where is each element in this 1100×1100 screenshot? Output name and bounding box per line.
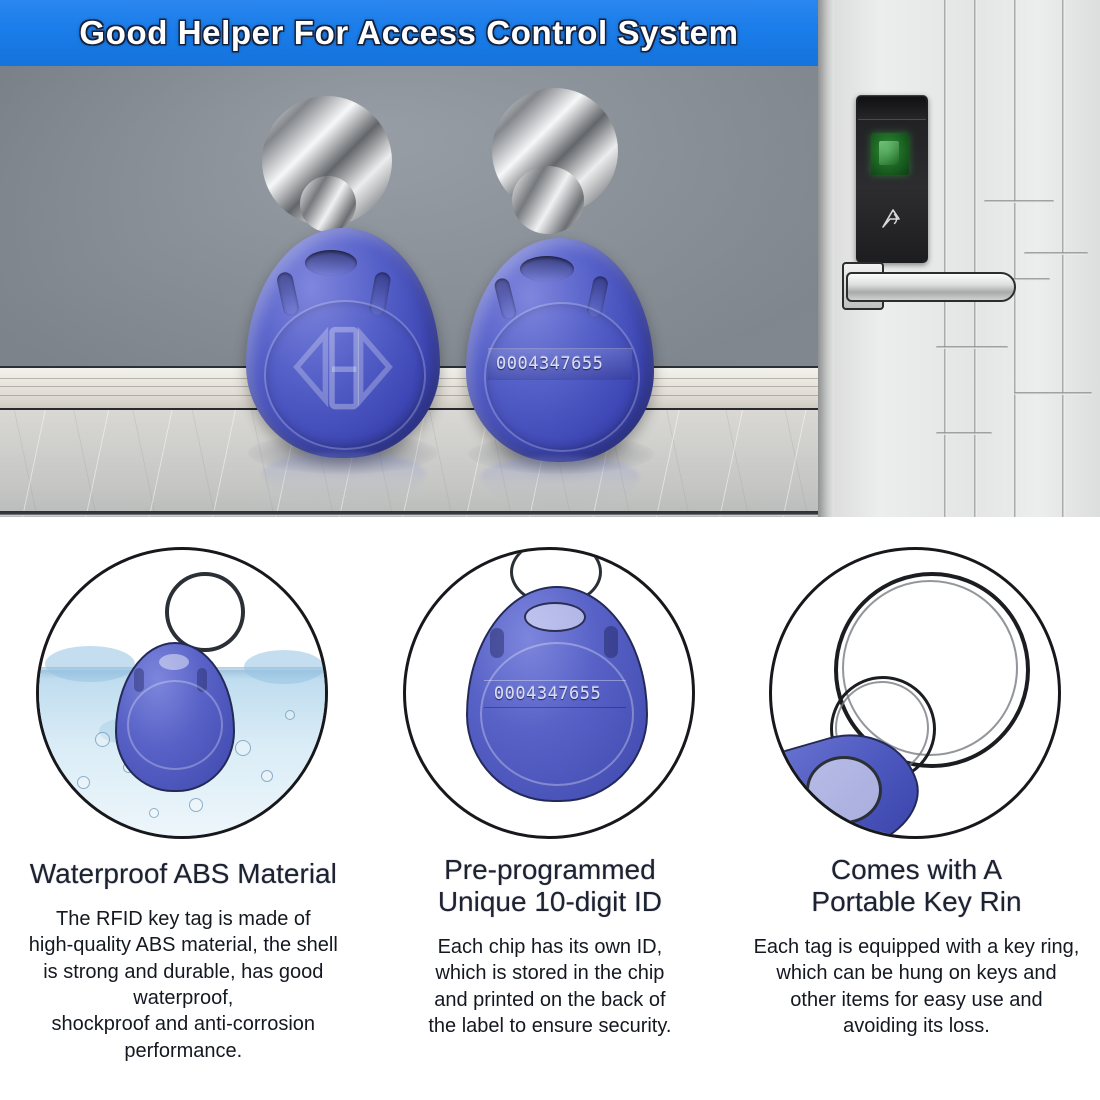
door-jamb	[818, 0, 834, 517]
rfid-wave-icon	[878, 207, 904, 231]
fob-ring-hole-2	[520, 256, 574, 282]
split-key-ring-small	[300, 176, 356, 232]
header-banner: Good Helper For Access Control System	[0, 0, 818, 66]
lock-panel-top-strip	[858, 97, 926, 120]
fob-printed-id-icon: 0004347655	[395, 543, 705, 848]
split-key-ring-2-small	[512, 166, 584, 234]
door-lever-handle[interactable]	[846, 272, 1016, 302]
fob-printed-id: 0004347655	[496, 354, 603, 374]
feature-column-unique-id: 0004347655 Pre-programmed Unique 10-digi…	[367, 517, 734, 1064]
fob-printed-id-closeup: 0004347655	[494, 684, 601, 704]
feature-body-key-ring: Each tag is equipped with a key ring, wh…	[748, 934, 1086, 1040]
feature-body-waterproof: The RFID key tag is made of high-quality…	[0, 906, 367, 1064]
feature-column-key-ring: Comes with A Portable Key Rin Each tag i…	[733, 517, 1100, 1064]
fob-ring-hole	[305, 250, 357, 276]
features-section: Waterproof ABS Material The RFID key tag…	[0, 517, 1100, 1100]
electronic-lock-panel[interactable]	[856, 95, 928, 263]
lock-display-screen	[871, 133, 909, 175]
feature-heading-key-ring: Comes with A Portable Key Rin	[803, 854, 1029, 918]
banner-title: Good Helper For Access Control System	[79, 14, 738, 52]
feature-heading-waterproof: Waterproof ABS Material	[22, 858, 345, 890]
fob-brand-logo-icon	[288, 312, 398, 422]
hero-photo: 0004347655	[0, 0, 1100, 517]
product-infographic-page: 0004347655	[0, 0, 1100, 1100]
feature-body-unique-id: Each chip has its own ID, which is store…	[422, 934, 677, 1040]
fob-in-water-icon	[28, 543, 338, 848]
access-control-door	[818, 0, 1100, 517]
feature-column-waterproof: Waterproof ABS Material The RFID key tag…	[0, 517, 367, 1064]
feature-heading-unique-id: Pre-programmed Unique 10-digit ID	[430, 854, 670, 918]
key-ring-icon	[761, 543, 1071, 848]
